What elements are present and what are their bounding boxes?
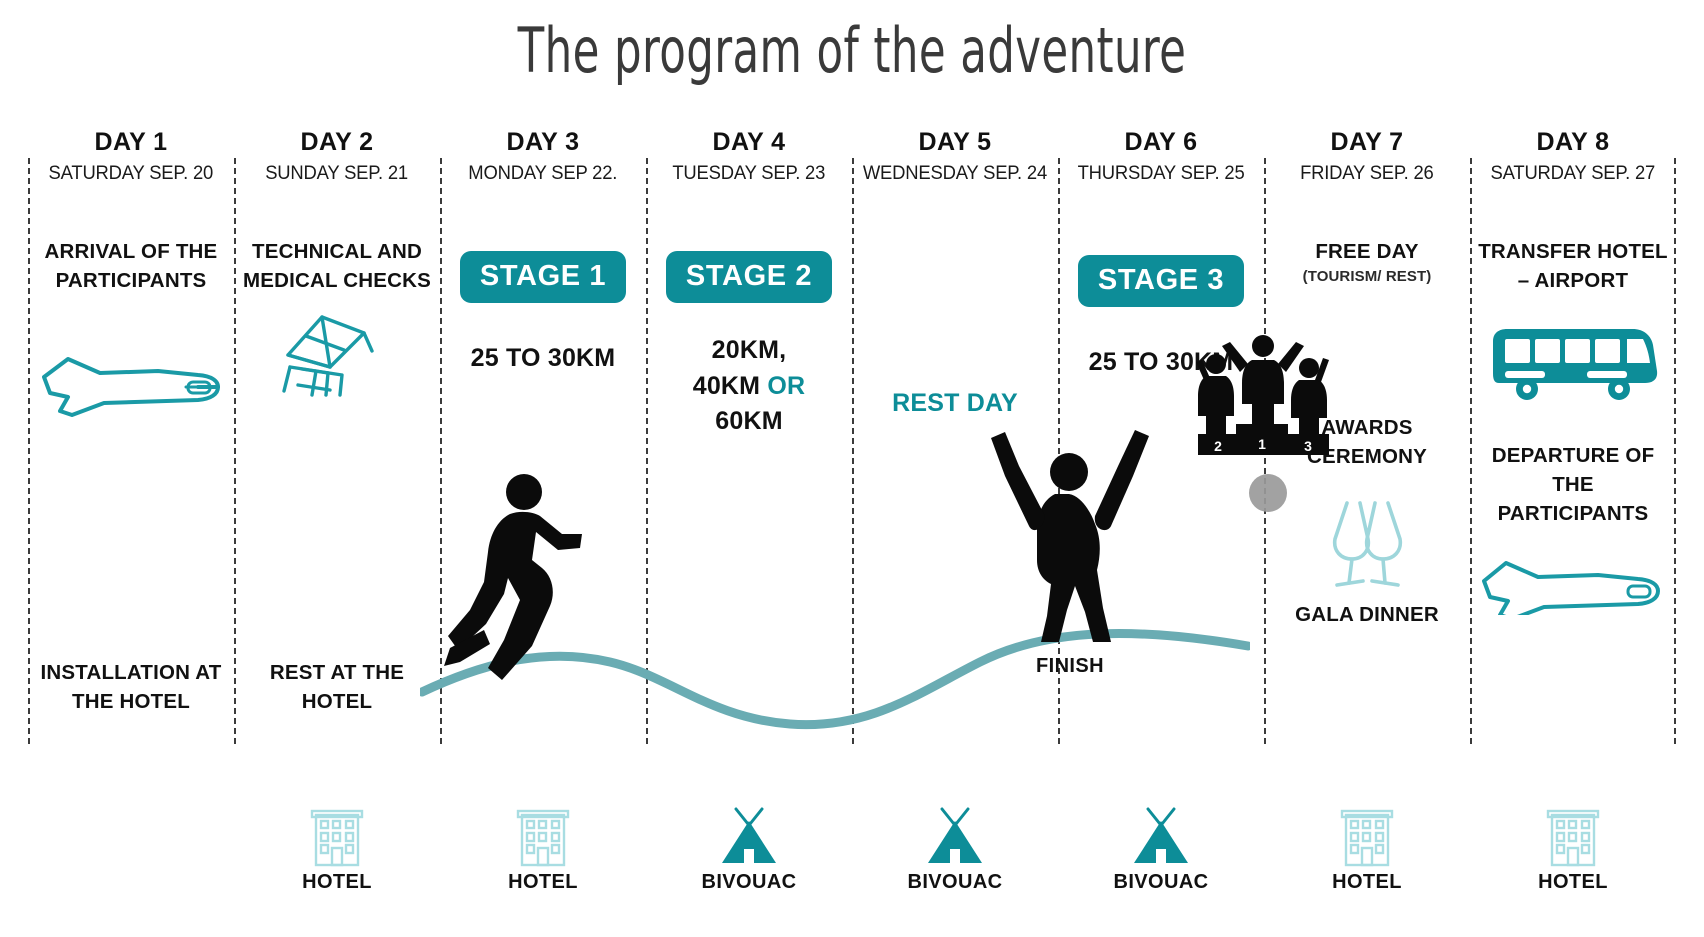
day-distance: 20KM, 40KM OR 60KM <box>693 333 806 440</box>
day-date: SATURDAY SEP. 27 <box>1491 163 1656 185</box>
hotel-icon <box>308 805 366 867</box>
day-bottom-note: REST AT THE HOTEL <box>240 658 434 716</box>
stage-badge: STAGE 1 <box>460 251 626 303</box>
airplane-icon <box>1480 547 1666 615</box>
departure-label: DEPARTURE OF THE PARTICIPANTS <box>1476 441 1670 528</box>
tent-icon <box>924 805 986 867</box>
distance-or-word: OR <box>767 372 805 400</box>
hotel-icon <box>1338 805 1396 867</box>
distance-line-3: 60KM <box>715 407 783 435</box>
day-title: DAY 6 <box>1125 128 1198 157</box>
day-sublabel: (TOURISM/ REST) <box>1303 268 1432 285</box>
day-title: DAY 5 <box>919 128 992 157</box>
lodging-label: HOTEL <box>302 871 372 894</box>
finishing-athlete-icon <box>985 420 1155 645</box>
distance-line-2: 40KM OR <box>693 372 806 400</box>
day-title: DAY 4 <box>713 128 786 157</box>
day-date: MONDAY SEP 22. <box>469 163 618 185</box>
day-date: SUNDAY SEP. 21 <box>266 163 409 185</box>
hotel-icon <box>514 805 572 867</box>
distance-line-2-value: 40KM <box>693 372 768 400</box>
stage-badge: STAGE 2 <box>666 251 832 303</box>
svg-text:1: 1 <box>1258 436 1266 452</box>
day-date: FRIDAY SEP. 26 <box>1300 163 1434 185</box>
day-title: DAY 1 <box>95 128 168 157</box>
hotel-icon <box>1544 805 1602 867</box>
day-headline: FREE DAY <box>1315 237 1418 266</box>
cursor-dot <box>1249 474 1287 512</box>
day-headline: ARRIVAL OF THE PARTICIPANTS <box>34 237 228 295</box>
lodging-label: BIVOUAC <box>701 871 796 894</box>
bus-icon <box>1487 325 1659 405</box>
lodging-label: BIVOUAC <box>907 871 1002 894</box>
day-title: DAY 3 <box>507 128 580 157</box>
airplane-landing-icon <box>38 337 224 427</box>
lodging-item: HOTEL <box>1470 805 1676 894</box>
lodging-strip: HOTEL HOTEL <box>28 805 1676 937</box>
days-grid: DAY 1 SATURDAY SEP. 20 ARRIVAL OF THE PA… <box>28 128 1676 808</box>
day-date: WEDNESDAY SEP. 24 <box>863 163 1047 185</box>
lodging-item: HOTEL <box>234 805 440 894</box>
distance-line-1: 20KM, <box>712 336 787 364</box>
lodging-item: HOTEL <box>1264 805 1470 894</box>
svg-text:3: 3 <box>1304 438 1312 454</box>
day-column-3: DAY 3 MONDAY SEP 22. STAGE 1 25 TO 30KM <box>440 128 646 808</box>
day-column-8: DAY 8 SATURDAY SEP. 27 TRANSFER HOTEL – … <box>1470 128 1676 808</box>
lodging-item: BIVOUAC <box>1058 805 1264 894</box>
svg-text:2: 2 <box>1214 438 1222 454</box>
day-title: DAY 2 <box>301 128 374 157</box>
gala-dinner-label: GALA DINNER <box>1295 600 1439 629</box>
day-distance: 25 TO 30KM <box>471 341 616 377</box>
finish-label: FINISH <box>985 655 1155 678</box>
rest-day-label: REST DAY <box>892 389 1018 418</box>
day-column-7: DAY 7 FRIDAY SEP. 26 FREE DAY (TOURISM/ … <box>1264 128 1470 808</box>
lodging-label: HOTEL <box>508 871 578 894</box>
tent-icon <box>718 805 780 867</box>
lodging-item: BIVOUAC <box>646 805 852 894</box>
day-headline: TRANSFER HOTEL – AIRPORT <box>1476 237 1670 295</box>
day-column-2: DAY 2 SUNDAY SEP. 21 TECHNICAL AND MEDIC… <box>234 128 440 808</box>
lodging-item: HOTEL <box>440 805 646 894</box>
day-column-1: DAY 1 SATURDAY SEP. 20 ARRIVAL OF THE PA… <box>28 128 234 808</box>
day-column-4: DAY 4 TUESDAY SEP. 23 STAGE 2 20KM, 40KM… <box>646 128 852 808</box>
day-bottom-note: INSTALLATION AT THE HOTEL <box>34 658 228 716</box>
podium-awards-icon: 1 2 3 <box>1196 330 1331 455</box>
day-title: DAY 7 <box>1331 128 1404 157</box>
day-headline: TECHNICAL AND MEDICAL CHECKS <box>240 237 434 295</box>
program-infographic: The program of the adventure DAY 1 SATUR… <box>0 0 1704 937</box>
day-date: THURSDAY SEP. 25 <box>1078 163 1245 185</box>
day-title: DAY 8 <box>1537 128 1610 157</box>
page-title: The program of the adventure <box>187 14 1516 87</box>
lodging-label: BIVOUAC <box>1113 871 1208 894</box>
beach-parasol-deckchair-icon <box>272 311 402 403</box>
day-date: SATURDAY SEP. 20 <box>49 163 214 185</box>
tent-icon <box>1130 805 1192 867</box>
stage-badge: STAGE 3 <box>1078 255 1244 307</box>
running-athlete-icon <box>440 470 590 685</box>
day-date: TUESDAY SEP. 23 <box>673 163 826 185</box>
lodging-label: HOTEL <box>1538 871 1608 894</box>
champagne-toast-icon <box>1319 497 1415 592</box>
lodging-item: BIVOUAC <box>852 805 1058 894</box>
lodging-label: HOTEL <box>1332 871 1402 894</box>
